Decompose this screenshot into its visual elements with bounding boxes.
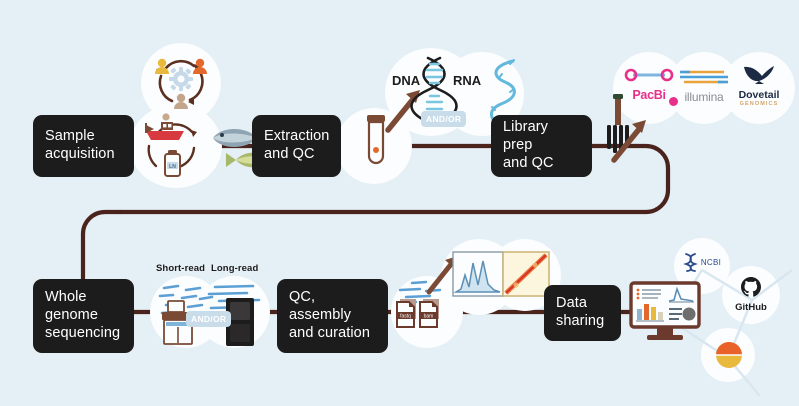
person-tan-icon — [174, 94, 188, 109]
coverage-histogram-icon — [452, 251, 504, 297]
zenodo-circle-icon — [715, 341, 743, 369]
and-or-badge-bottom: AND/OR — [186, 311, 231, 327]
fastq-file-icon: fastq — [397, 299, 416, 327]
illumina-logo: illumina — [673, 68, 735, 104]
stage-qc-line-3: and curation — [289, 325, 370, 343]
stage-qc-assembly-and-curation[interactable]: QC, assembly and curation — [277, 279, 388, 353]
stage-extraction-line-1: Extraction — [264, 128, 329, 146]
stage-qc-line-1: QC, — [289, 289, 370, 307]
github-label: GitHub — [727, 302, 775, 313]
dashboard-monitor-icon — [629, 281, 701, 343]
stage-data-sharing-line-2: sharing — [556, 313, 604, 331]
research-boat-icon — [146, 113, 184, 140]
stage-wgs-line-2: genome — [45, 307, 120, 325]
and-or-badge-top: AND/OR — [421, 111, 466, 127]
ncbi-label: NCBI — [701, 258, 721, 267]
svg-text:bam: bam — [424, 314, 434, 320]
stage-wgs-line-1: Whole — [45, 289, 120, 307]
dna-label: DNA — [392, 73, 420, 88]
ncbi-logo: NCBI — [678, 252, 726, 272]
stage-data-sharing-line-1: Data — [556, 295, 604, 313]
stage-extraction-and-qc[interactable]: Extraction and QC — [252, 115, 341, 177]
stage-library-line-1: Library prep — [503, 119, 580, 154]
svg-text:fastq: fastq — [400, 314, 411, 320]
stage-data-sharing[interactable]: Data sharing — [544, 285, 621, 341]
nitrogen-dewar-icon: LN — [165, 150, 180, 176]
stage-qc-line-2: assembly — [289, 307, 370, 325]
stage-sample-acquisition-line-2: acquisition — [45, 146, 115, 164]
github-logo: GitHub — [727, 276, 775, 313]
illumina-label: illumina — [673, 90, 735, 104]
long-read-label: Long-read — [211, 263, 258, 274]
github-octocat-icon — [740, 276, 762, 298]
hic-contact-map-icon — [502, 251, 550, 297]
smrtbell-icon — [621, 68, 677, 82]
ncbi-helix-icon — [683, 252, 699, 272]
stage-whole-genome-sequencing[interactable]: Whole genome sequencing — [33, 279, 134, 353]
pacbio-dot-icon — [669, 97, 678, 106]
rna-label: RNA — [453, 73, 481, 88]
workflow-diagram: LN — [0, 0, 799, 406]
dovetail-label: Dovetail — [728, 89, 790, 101]
wire-left-elbow-down — [83, 212, 120, 280]
stage-library-prep-and-qc[interactable]: Library prep and QC — [491, 115, 592, 177]
dovetail-sub-label: GENOMICS — [728, 101, 790, 107]
output-files-icon: fastq bam — [396, 297, 440, 339]
short-read-label: Short-read — [156, 263, 205, 274]
svg-text:LN: LN — [169, 164, 176, 170]
dovetail-logo: Dovetail GENOMICS — [728, 64, 790, 107]
stage-library-line-2: and QC — [503, 155, 580, 173]
stage-sample-acquisition[interactable]: Sample acquisition — [33, 115, 134, 177]
bam-file-icon: bam — [420, 299, 439, 327]
stage-sample-acquisition-line-1: Sample — [45, 128, 115, 146]
library-arrow-icon — [608, 116, 654, 164]
stage-wgs-line-3: sequencing — [45, 325, 120, 343]
illumina-bars-icon — [676, 68, 732, 84]
dovetail-bird-icon — [742, 64, 776, 84]
stage-extraction-line-2: and QC — [264, 146, 329, 164]
